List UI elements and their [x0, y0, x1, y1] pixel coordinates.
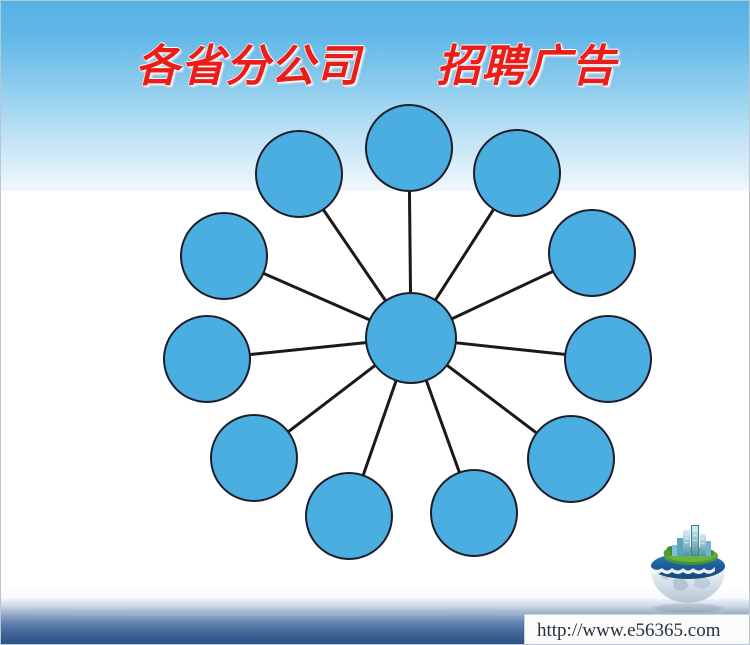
spoke-line-11	[434, 207, 495, 301]
slide-canvas: 各省分公司 招聘广告	[0, 0, 750, 645]
branch-node-1-top[interactable]	[366, 105, 452, 191]
spoke-line-1	[409, 189, 410, 295]
branch-node-3-upper-left[interactable]	[181, 213, 267, 299]
branch-node-8-lower-right[interactable]	[528, 416, 614, 502]
website-url-bar: http://www.e56365.com	[524, 614, 750, 645]
branch-node-2-top-left[interactable]	[256, 131, 342, 217]
spoke-line-7	[426, 378, 461, 474]
spoke-line-9	[454, 343, 567, 355]
spoke-line-10	[450, 270, 555, 319]
branch-node-6-bottom-left[interactable]	[306, 473, 392, 559]
diagram-svg	[151, 91, 651, 571]
branch-node-9-right[interactable]	[565, 316, 651, 402]
hub-node-headquarters[interactable]	[366, 293, 456, 383]
spoke-line-4	[248, 342, 368, 354]
branch-node-11-top-right[interactable]	[474, 130, 560, 216]
website-url-text: http://www.e56365.com	[537, 620, 720, 642]
diagram-nodes	[164, 105, 651, 559]
spoke-line-6	[362, 379, 396, 478]
spoke-line-3	[262, 272, 372, 320]
hub-and-spoke-diagram	[151, 91, 651, 571]
earth-globe-with-city-icon	[639, 522, 737, 614]
branch-node-5-lower-left[interactable]	[211, 415, 297, 501]
spoke-line-5	[287, 364, 377, 433]
spoke-line-8	[445, 364, 538, 434]
branch-node-4-left[interactable]	[164, 316, 250, 402]
branch-node-10-upper-right[interactable]	[549, 210, 635, 296]
branch-node-7-bottom-right[interactable]	[431, 470, 517, 556]
spoke-line-2	[322, 208, 387, 303]
